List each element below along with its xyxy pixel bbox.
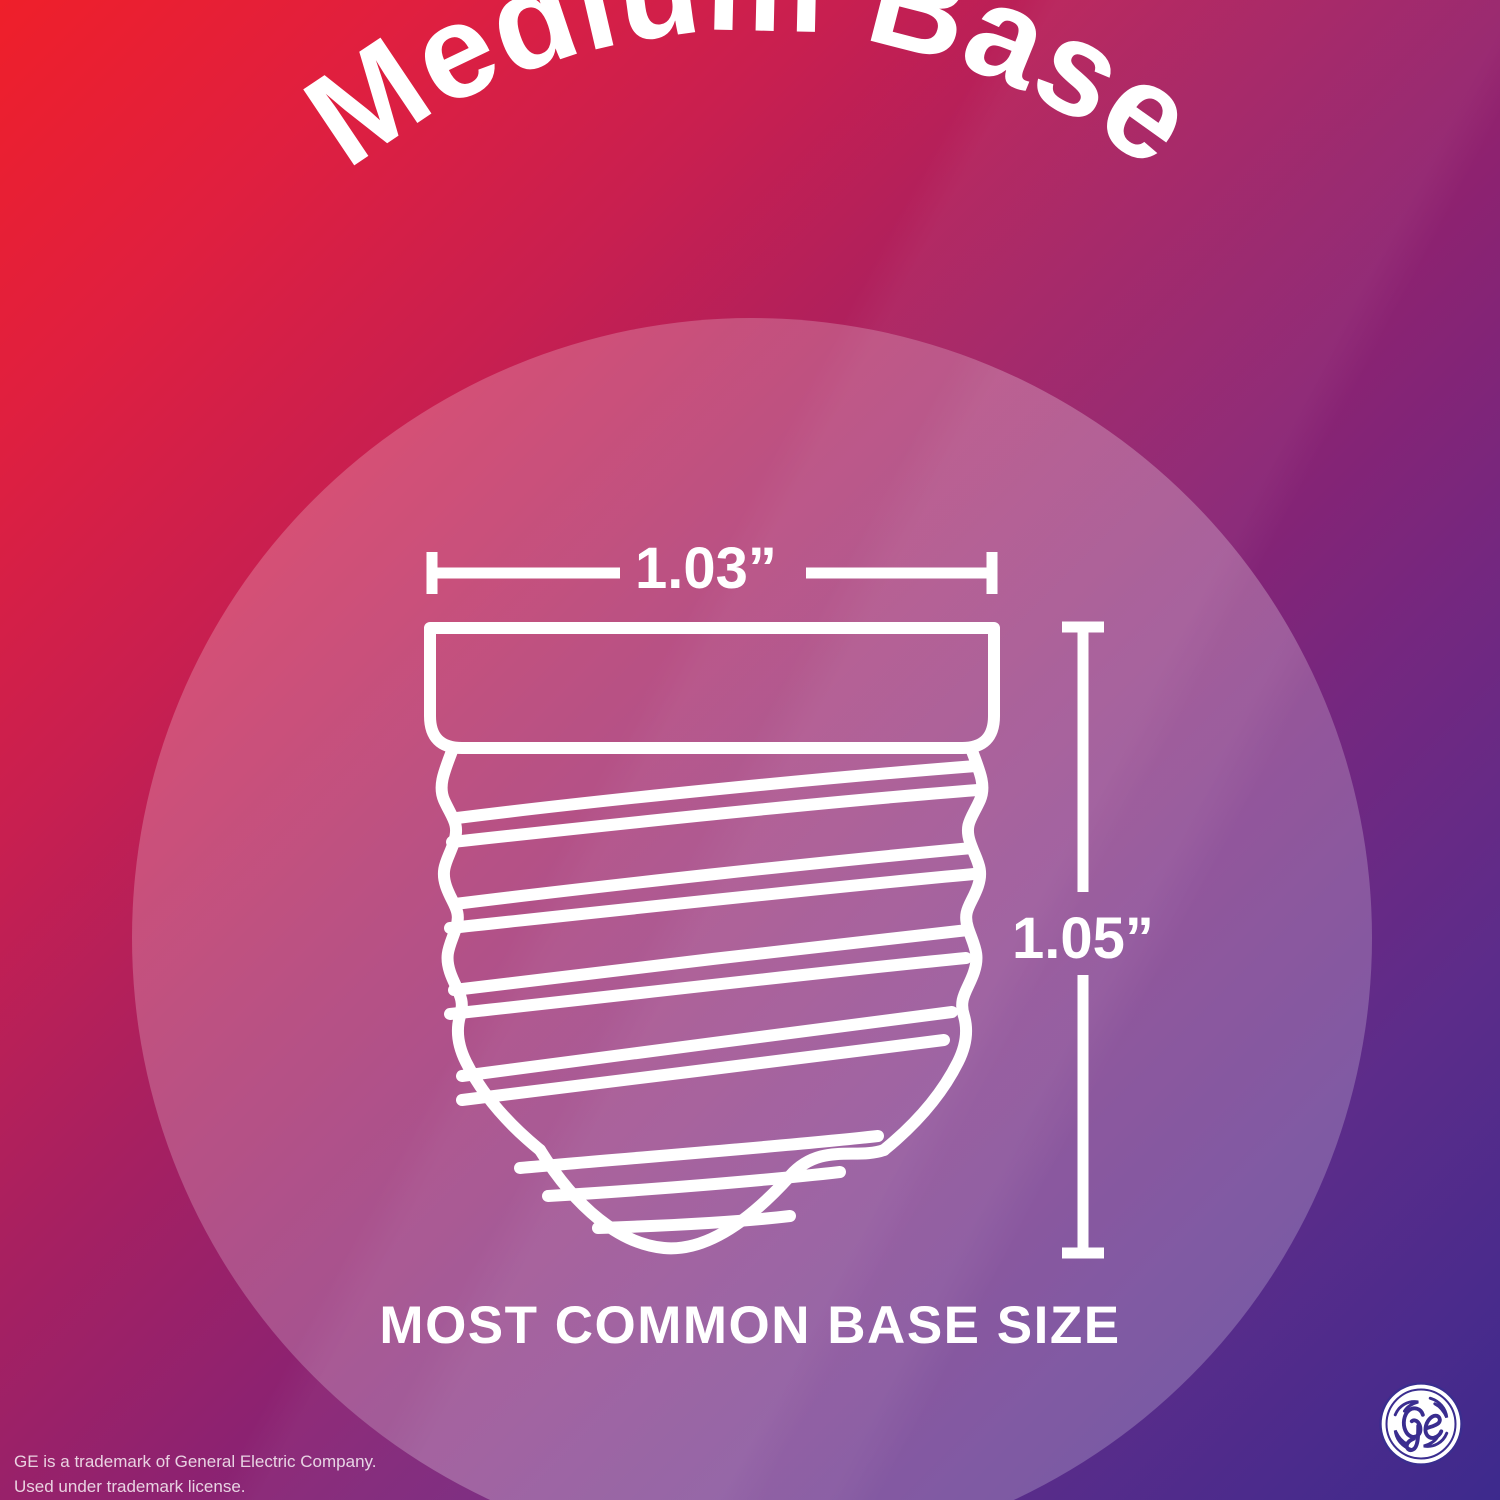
caption-text: MOST COMMON BASE SIZE [0, 1295, 1500, 1356]
legal-line-2: Used under trademark license. [14, 1475, 377, 1500]
legal-line-1: GE is a trademark of General Electric Co… [14, 1450, 377, 1475]
legal-disclaimer: GE is a trademark of General Electric Co… [14, 1450, 377, 1499]
width-dimension-label: 1.03” [635, 535, 777, 602]
bulb-base-outline [430, 628, 994, 1248]
thread-spiral-lines [450, 766, 978, 1228]
bulb-base-diagram [0, 0, 1500, 1500]
infographic-canvas: Medium Base [0, 0, 1500, 1500]
collar-shape [430, 628, 994, 748]
ge-logo-icon [1375, 1378, 1467, 1470]
thread-right-edge [884, 751, 982, 1150]
height-dimension-label: 1.05” [1012, 905, 1154, 972]
